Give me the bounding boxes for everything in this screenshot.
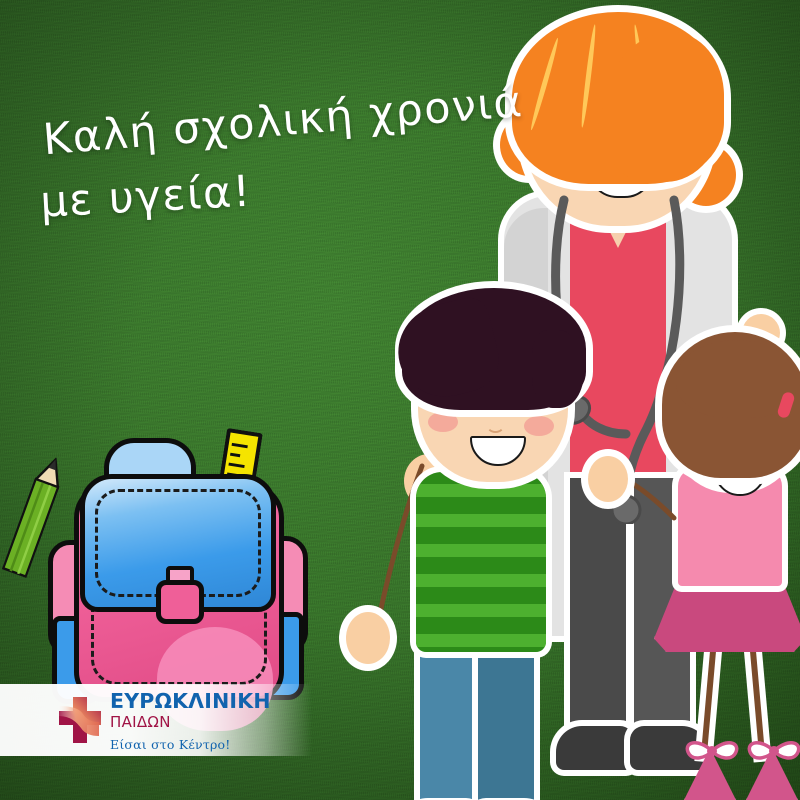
boy-shirt-stripe bbox=[416, 484, 546, 497]
logo-title: ΕΥΡΩΚΛΙΝΙΚΗ bbox=[110, 690, 271, 713]
boy-shirt-stripe bbox=[416, 634, 546, 647]
boy-child bbox=[382, 276, 602, 800]
boy-cheek-left bbox=[428, 412, 458, 432]
boy-pant-left bbox=[420, 636, 474, 800]
boy-shirt-stripe bbox=[416, 574, 546, 587]
logo-band: ΕΥΡΩΚΛΙΝΙΚΗ ΠΑΙΔΩΝ Είσαι στο Κέντρο! bbox=[0, 684, 312, 756]
boy-hair-tip-right bbox=[532, 330, 584, 408]
school-backpack bbox=[20, 430, 310, 710]
boy-cheek-right bbox=[524, 416, 554, 436]
girl-child bbox=[650, 318, 800, 800]
boy-nose bbox=[486, 416, 505, 433]
boy-pant-right bbox=[478, 636, 534, 800]
boy-shirt-stripe bbox=[416, 514, 546, 527]
boy-smile bbox=[470, 436, 526, 466]
logo-tagline: Είσαι στο Κέντρο! bbox=[110, 737, 271, 752]
doctor-hair-highlight bbox=[580, 24, 598, 128]
medical-cross-icon bbox=[57, 696, 103, 744]
poster-canvas: Καλή σχολική χρονιά με υγεία! bbox=[0, 0, 800, 800]
logo-text-block: ΕΥΡΩΚΛΙΝΙΚΗ ΠΑΙΔΩΝ Είσαι στο Κέντρο! bbox=[110, 690, 271, 752]
doctor-hair-highlight bbox=[529, 37, 560, 131]
boy-striped-shirt bbox=[416, 472, 546, 652]
backpack-buckle bbox=[156, 580, 204, 624]
boy-shirt-stripe bbox=[416, 604, 546, 617]
boy-hand bbox=[346, 612, 390, 664]
girl-shoe-bow-left bbox=[678, 736, 746, 766]
boy-shirt-stripe bbox=[416, 544, 546, 557]
girl-shoe-bow-right bbox=[740, 736, 800, 766]
logo-subtitle: ΠΑΙΔΩΝ bbox=[110, 713, 271, 732]
